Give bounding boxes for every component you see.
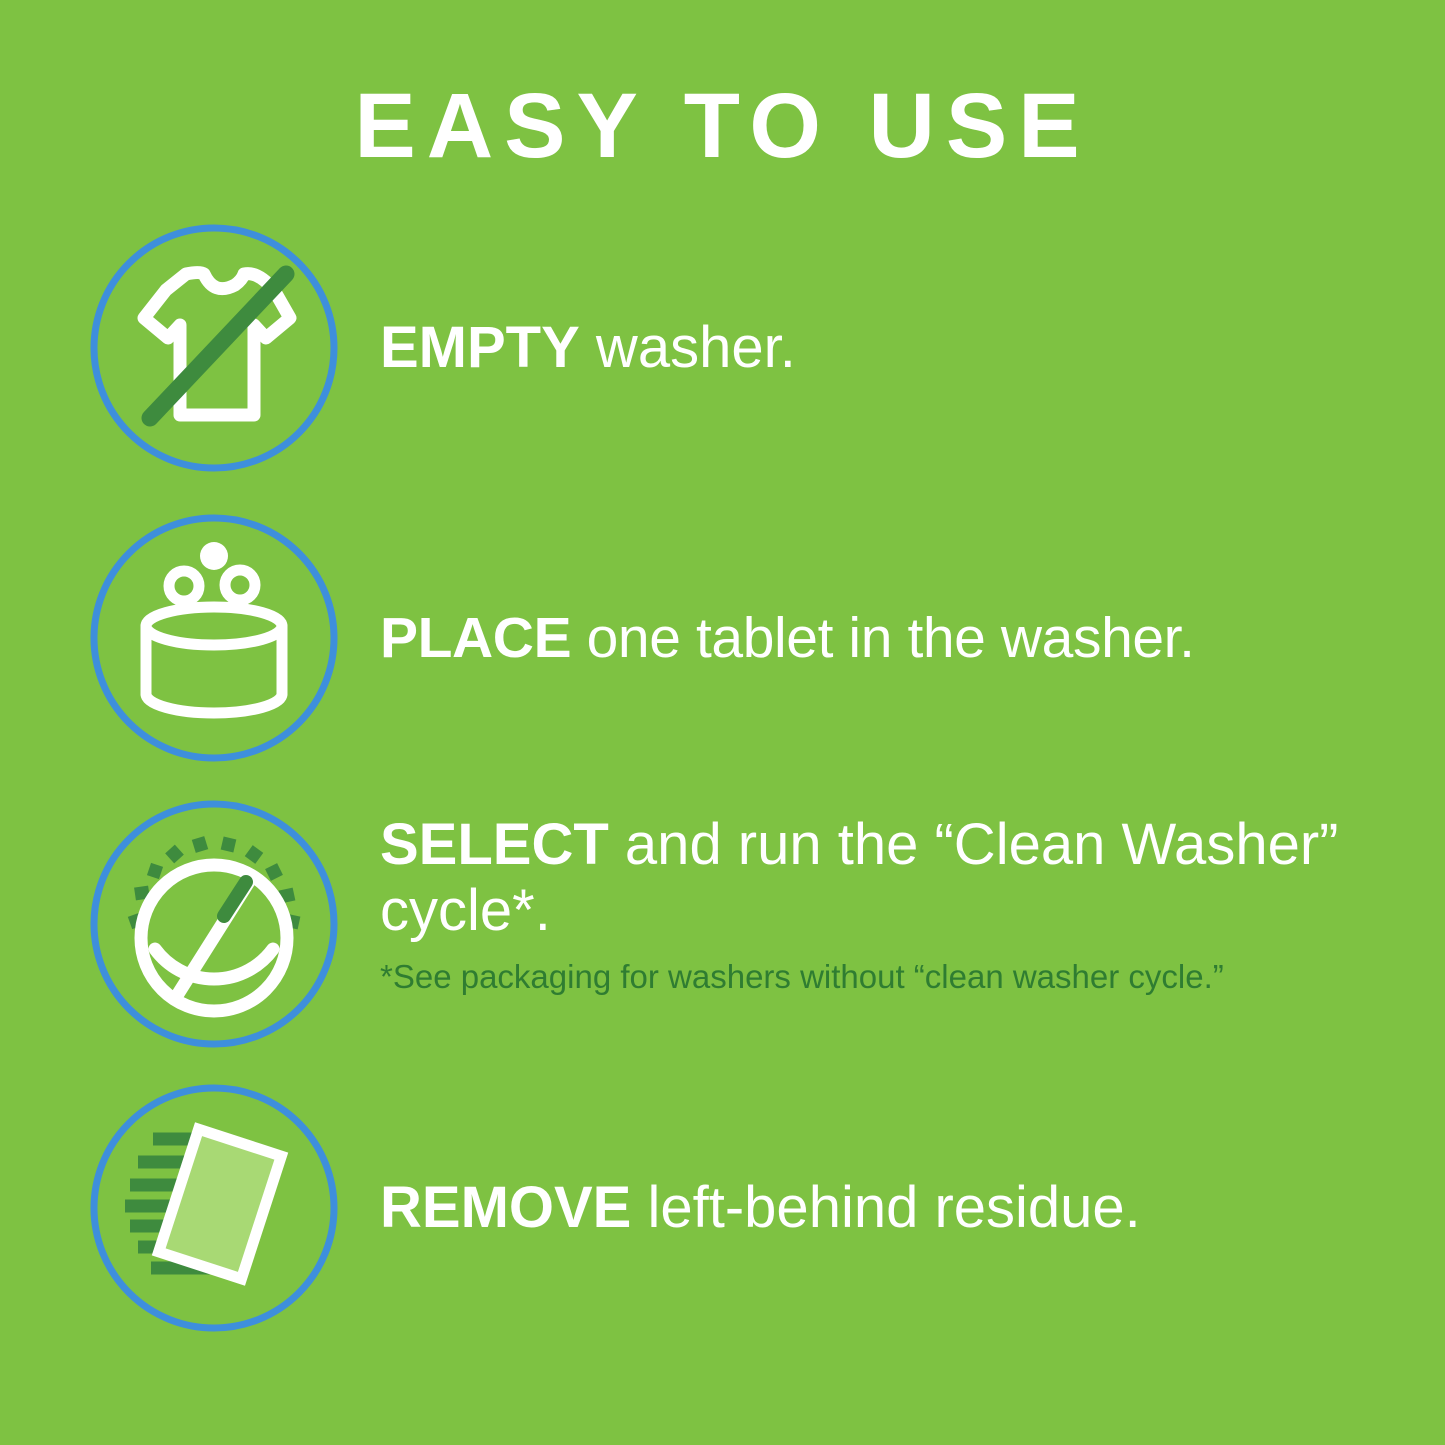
no-laundry-shirt-icon bbox=[88, 222, 340, 474]
step-row-4: REMOVE left-behind residue. bbox=[0, 1082, 1445, 1340]
step-line-2: PLACE one tablet in the washer. bbox=[380, 606, 1400, 671]
step-line-3: SELECT and run the “Clean Washer” cycle*… bbox=[380, 812, 1400, 944]
step-footnote-3: *See packaging for washers without “clea… bbox=[380, 956, 1260, 998]
step-row-3: SELECT and run the “Clean Washer” cycle*… bbox=[0, 798, 1445, 1056]
step-row-2: PLACE one tablet in the washer. bbox=[0, 512, 1445, 770]
step-text-4: REMOVE left-behind residue. bbox=[380, 1082, 1400, 1334]
step-rest-4: left-behind residue. bbox=[631, 1175, 1140, 1240]
step-rest-2: one tablet in the washer. bbox=[571, 606, 1194, 670]
step-rest-1: washer. bbox=[580, 315, 796, 380]
wiping-cloth-residue-icon bbox=[88, 1082, 340, 1334]
step-emphasis-3: SELECT bbox=[380, 812, 609, 877]
easy-to-use-infographic: EASY TO USE EMPTY washer. bbox=[0, 0, 1445, 1445]
step-row-1: EMPTY washer. bbox=[0, 222, 1445, 480]
step-line-1: EMPTY washer. bbox=[380, 315, 1400, 381]
step-emphasis-4: REMOVE bbox=[380, 1175, 631, 1240]
tablet-puck-with-bubbles-icon bbox=[88, 512, 340, 764]
washer-dial-knob-icon bbox=[88, 798, 340, 1050]
step-text-1: EMPTY washer. bbox=[380, 222, 1400, 474]
step-line-4: REMOVE left-behind residue. bbox=[380, 1175, 1400, 1241]
step-emphasis-2: PLACE bbox=[380, 606, 571, 670]
step-text-3: SELECT and run the “Clean Washer” cycle*… bbox=[380, 798, 1400, 1064]
page-title: EASY TO USE bbox=[0, 78, 1445, 175]
step-text-2: PLACE one tablet in the washer. bbox=[380, 512, 1400, 764]
step-emphasis-1: EMPTY bbox=[380, 315, 580, 380]
